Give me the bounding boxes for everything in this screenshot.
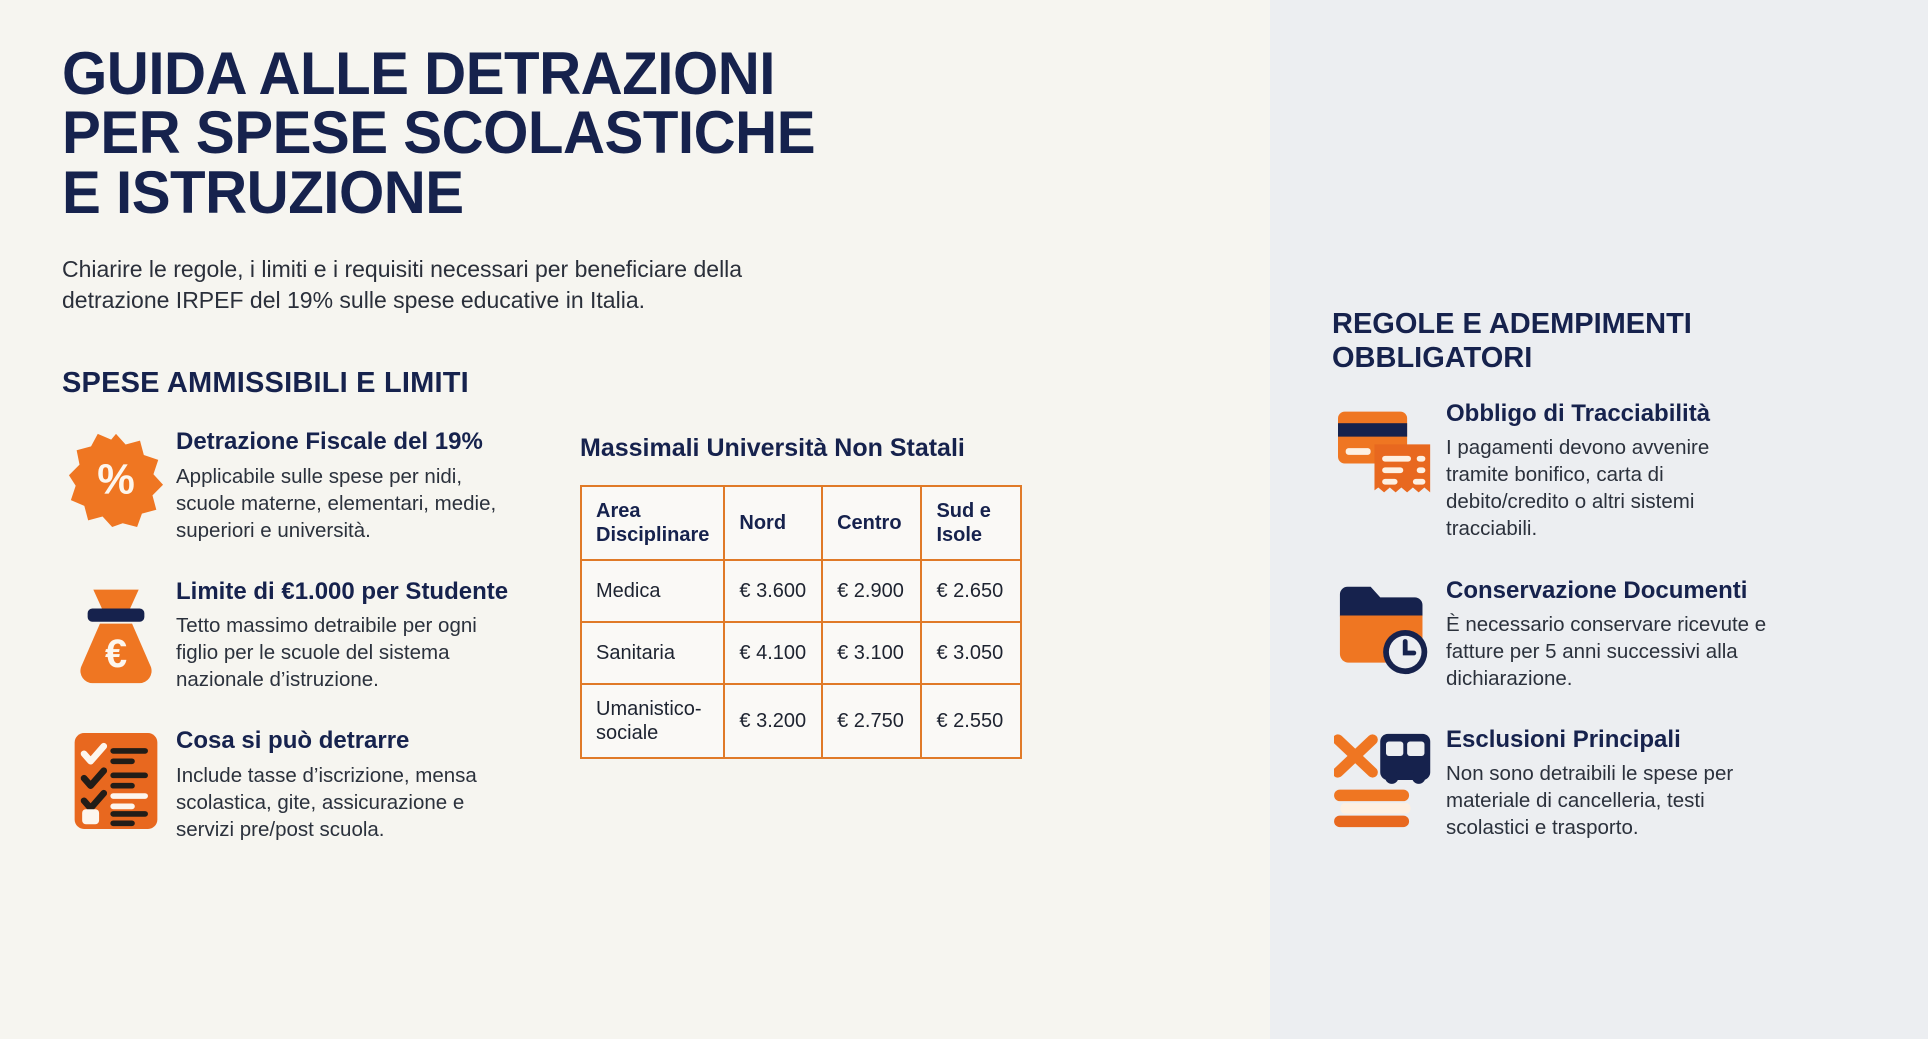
left-columns: % Detrazione Fiscale del 19% Applicabile… bbox=[62, 428, 1270, 876]
rules-list: Obbligo di Tracciabilità I pagamenti dev… bbox=[1332, 400, 1928, 875]
table-cell-area: Medica bbox=[581, 560, 724, 622]
table-cell-sud: € 2.550 bbox=[921, 684, 1021, 758]
list-item: % Detrazione Fiscale del 19% Applicabile… bbox=[62, 428, 532, 543]
table-cell-centro: € 3.100 bbox=[822, 622, 921, 684]
table-cell-nord: € 3.600 bbox=[724, 560, 822, 622]
table-column: Massimali Università Non Statali Area Di… bbox=[580, 428, 1050, 876]
list-item: Esclusioni Principali Non sono detraibil… bbox=[1332, 726, 1928, 841]
list-item: Obbligo di Tracciabilità I pagamenti dev… bbox=[1332, 400, 1928, 543]
page-title-line-3: E ISTRUZIONE bbox=[62, 163, 993, 222]
list-item-body: Applicabile sulle spese per nidi, scuole… bbox=[176, 463, 506, 544]
list-item-text: Obbligo di Tracciabilità I pagamenti dev… bbox=[1440, 400, 1776, 543]
list-item-title: Conservazione Documenti bbox=[1446, 577, 1776, 605]
list-item-title: Esclusioni Principali bbox=[1446, 726, 1776, 754]
infographic-page: GUIDA ALLE DETRAZIONI PER SPESE SCOLASTI… bbox=[0, 0, 1928, 1039]
table-cell-area: Sanitaria bbox=[581, 622, 724, 684]
list-item-text: Cosa si può detrarre Include tasse d’isc… bbox=[170, 727, 506, 842]
page-title-line-1: GUIDA ALLE DETRAZIONI bbox=[62, 44, 993, 103]
page-subtitle-line-2: detrazione IRPEF del 19% sulle spese edu… bbox=[62, 285, 842, 316]
list-item-title: Obbligo di Tracciabilità bbox=[1446, 400, 1776, 428]
exclusions-bus-books-icon bbox=[1332, 726, 1440, 841]
left-panel: GUIDA ALLE DETRAZIONI PER SPESE SCOLASTI… bbox=[0, 0, 1270, 1039]
table-col-header-area: Area Disciplinare bbox=[581, 486, 724, 560]
list-item: Cosa si può detrarre Include tasse d’isc… bbox=[62, 727, 532, 842]
list-item-title: Cosa si può detrarre bbox=[176, 727, 506, 755]
table-cell-centro: € 2.900 bbox=[822, 560, 921, 622]
money-bag-euro-icon: € bbox=[62, 578, 170, 693]
list-item-text: Conservazione Documenti È necessario con… bbox=[1440, 577, 1776, 692]
list-item-body: Include tasse d’iscrizione, mensa scolas… bbox=[176, 762, 506, 843]
list-item: € Limite di €1.000 per Studente Tetto ma… bbox=[62, 578, 532, 693]
table-cell-nord: € 3.200 bbox=[724, 684, 822, 758]
massimali-table: Area Disciplinare Nord Centro Sud e Isol… bbox=[580, 485, 1022, 759]
section-heading-regole-line-1: REGOLE E ADEMPIMENTI bbox=[1332, 307, 1692, 341]
table-cell-sud: € 2.650 bbox=[921, 560, 1021, 622]
table-col-header-sud: Sud e Isole bbox=[921, 486, 1021, 560]
list-item-title: Detrazione Fiscale del 19% bbox=[176, 428, 506, 456]
table-cell-nord: € 4.100 bbox=[724, 622, 822, 684]
credit-card-receipt-icon bbox=[1332, 400, 1440, 543]
table-col-header-nord: Nord bbox=[724, 486, 822, 560]
list-item-body: È necessario conservare ricevute e fattu… bbox=[1446, 611, 1776, 692]
table-cell-sud: € 3.050 bbox=[921, 622, 1021, 684]
feature-list: % Detrazione Fiscale del 19% Applicabile… bbox=[62, 428, 532, 876]
list-item: Conservazione Documenti È necessario con… bbox=[1332, 577, 1928, 692]
section-heading-spese: SPESE AMMISSIBILI E LIMITI bbox=[62, 367, 1270, 400]
table-row: Medica € 3.600 € 2.900 € 2.650 bbox=[581, 560, 1021, 622]
svg-text:%: % bbox=[97, 456, 135, 503]
section-heading-regole: REGOLE E ADEMPIMENTI OBBLIGATORI bbox=[1332, 307, 1692, 375]
list-item-body: Non sono detraibili le spese per materia… bbox=[1446, 760, 1776, 841]
page-subtitle-line-1: Chiarire le regole, i limiti e i requisi… bbox=[62, 254, 842, 285]
svg-text:€: € bbox=[105, 632, 127, 676]
right-panel: REGOLE E ADEMPIMENTI OBBLIGATORI bbox=[1270, 0, 1928, 1039]
page-subtitle: Chiarire le regole, i limiti e i requisi… bbox=[62, 254, 842, 315]
list-item-text: Esclusioni Principali Non sono detraibil… bbox=[1440, 726, 1776, 841]
list-item-text: Limite di €1.000 per Studente Tetto mass… bbox=[170, 578, 508, 693]
table-row: Sanitaria € 4.100 € 3.100 € 3.050 bbox=[581, 622, 1021, 684]
list-item-title: Limite di €1.000 per Studente bbox=[176, 578, 508, 606]
page-title-line-2: PER SPESE SCOLASTICHE bbox=[62, 103, 993, 162]
folder-clock-icon bbox=[1332, 577, 1440, 692]
table-row: Umanistico-sociale € 3.200 € 2.750 € 2.5… bbox=[581, 684, 1021, 758]
list-item-body: I pagamenti devono avvenire tramite boni… bbox=[1446, 434, 1776, 542]
table-col-header-centro: Centro bbox=[822, 486, 921, 560]
list-item-text: Detrazione Fiscale del 19% Applicabile s… bbox=[170, 428, 506, 543]
checklist-icon bbox=[62, 727, 170, 842]
table-cell-centro: € 2.750 bbox=[822, 684, 921, 758]
list-item-body: Tetto massimo detraibile per ogni figlio… bbox=[176, 612, 506, 693]
table-title: Massimali Università Non Statali bbox=[580, 434, 1050, 463]
page-title: GUIDA ALLE DETRAZIONI PER SPESE SCOLASTI… bbox=[62, 44, 993, 222]
percent-badge-icon: % bbox=[62, 428, 170, 543]
table-header-row: Area Disciplinare Nord Centro Sud e Isol… bbox=[581, 486, 1021, 560]
section-heading-regole-line-2: OBBLIGATORI bbox=[1332, 341, 1692, 375]
table-cell-area: Umanistico-sociale bbox=[581, 684, 724, 758]
